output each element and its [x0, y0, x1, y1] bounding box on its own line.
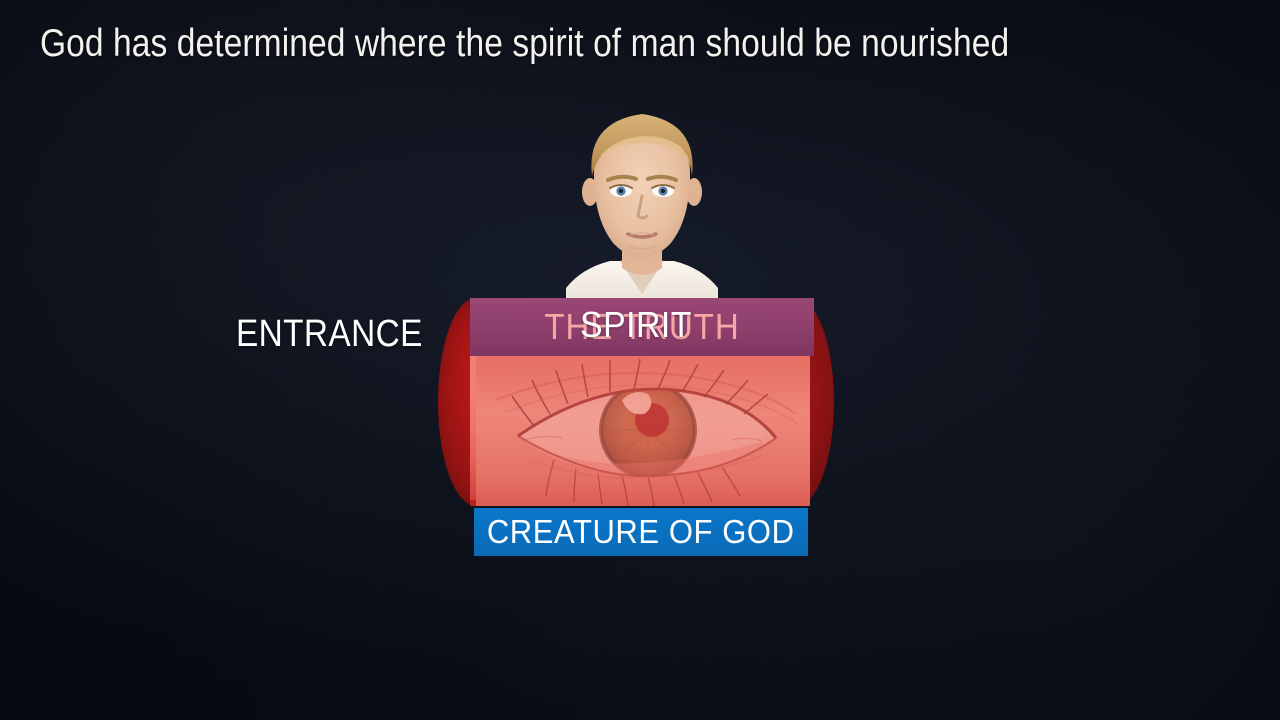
eye-image [476, 356, 810, 506]
spirit-label: SPIRIT [450, 298, 822, 352]
slide-canvas: God has determined where the spirit of m… [0, 0, 1280, 720]
creature-of-god-bar: CREATURE OF GOD [474, 508, 808, 556]
person-portrait [548, 96, 736, 311]
page-title: God has determined where the spirit of m… [40, 20, 1072, 68]
eye-illustration [476, 356, 810, 506]
person-illustration [548, 96, 736, 311]
creature-of-god-label: CREATURE OF GOD [487, 513, 795, 551]
entrance-label: ENTRANCE [236, 310, 423, 358]
